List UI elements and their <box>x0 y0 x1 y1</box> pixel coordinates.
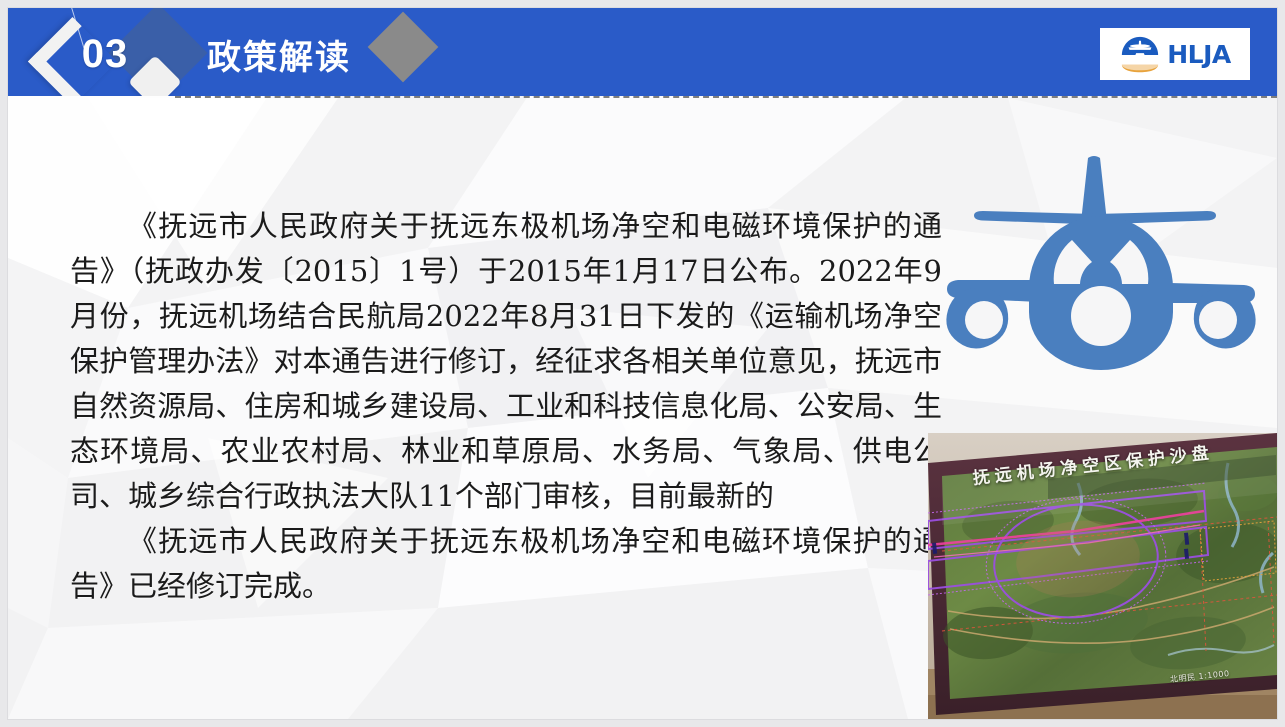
slide-header: 03 政策解读 HLJA <box>8 8 1277 96</box>
body-text: 《抚远市人民政府关于抚远东极机场净空和电磁环境保护的通告》（抚政办发〔2015〕… <box>70 204 942 609</box>
airplane-front-view-icon <box>936 148 1266 388</box>
paragraph-2: 《抚远市人民政府关于抚远东极机场净空和电磁环境保护的通告》已经修订完成。 <box>70 519 942 609</box>
section-number: 03 <box>70 30 140 78</box>
slide: 03 政策解读 HLJA <box>8 8 1277 719</box>
logo: HLJA <box>1100 28 1250 80</box>
fuyuan-airport-clearzone-sandtable-photo: 抚远机场净空区保护沙盘 北明民 1:1000 <box>928 433 1277 719</box>
header-divider <box>175 96 1277 98</box>
paragraph-1: 《抚远市人民政府关于抚远东极机场净空和电磁环境保护的通告》（抚政办发〔2015〕… <box>70 204 942 519</box>
hlja-airport-emblem-icon <box>1119 35 1161 73</box>
logo-text: HLJA <box>1167 40 1231 69</box>
page-title: 政策解读 <box>207 36 351 80</box>
header-diamond-gray <box>368 12 439 83</box>
